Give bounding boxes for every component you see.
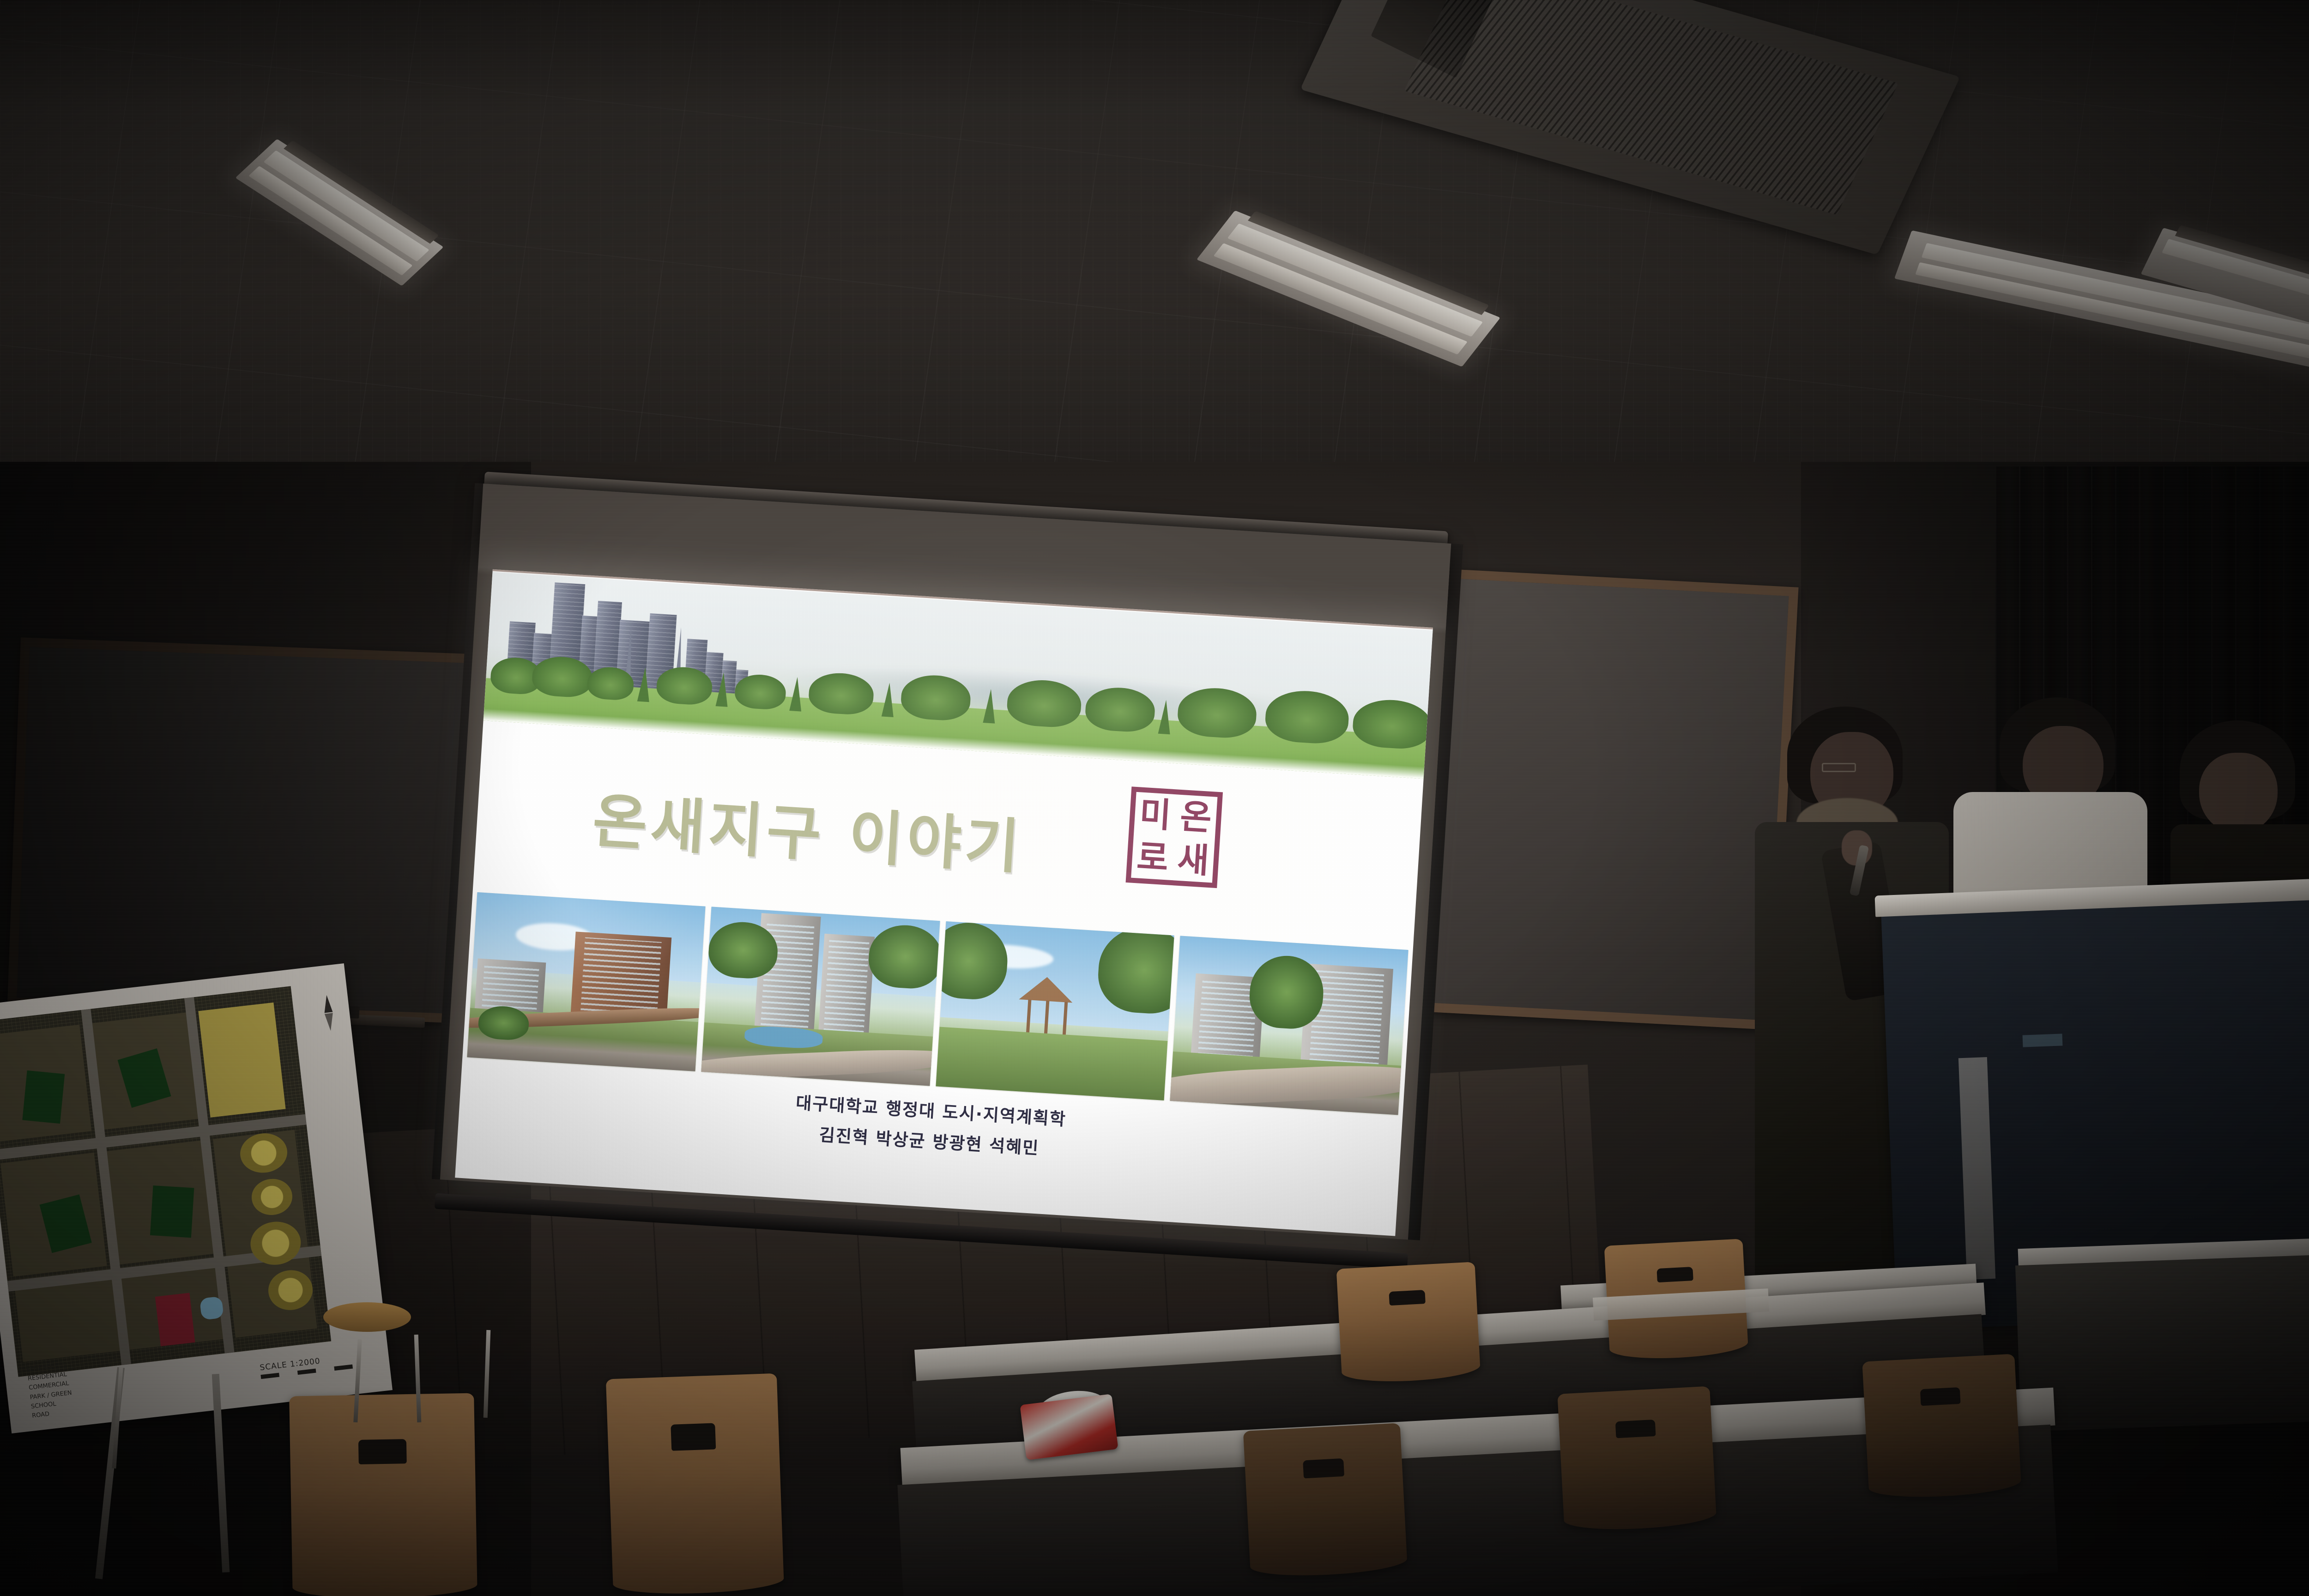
seal-char-2: 온 [1174, 794, 1218, 840]
chair-handle-cutout [1920, 1387, 1961, 1406]
plan-water-body [199, 1296, 224, 1320]
slide-title: 온새지구 이야기 [591, 773, 1026, 884]
chair[interactable] [1862, 1354, 2021, 1500]
poster-legend: LEGEND RESIDENTIAL COMMERCIAL PARK / GRE… [26, 1360, 74, 1421]
chair-handle-cutout [1615, 1420, 1656, 1438]
plan-commercial-strip [199, 1003, 286, 1118]
chair-handle-cutout [1389, 1290, 1425, 1306]
render-panel-residential-street [1170, 936, 1408, 1115]
seal-char-1: 미 [1134, 792, 1177, 837]
chair-handle-cutout [1303, 1458, 1344, 1478]
render-panel-apartments-plaza [701, 907, 940, 1086]
park-conifer [715, 672, 730, 707]
park-conifer [789, 677, 804, 711]
snack-bag [1020, 1394, 1118, 1460]
snack-package[interactable] [1020, 1394, 1118, 1460]
chair[interactable] [1336, 1262, 1481, 1384]
chair[interactable] [1557, 1386, 1717, 1533]
chair-handle-cutout [358, 1439, 407, 1464]
chair-handle-cutout [671, 1423, 716, 1451]
site-plan-poster-board[interactable]: SCALE 1:2000 LEGEND RESIDENTIAL COMMERCI… [0, 963, 393, 1433]
park-conifer [1158, 700, 1173, 734]
scale-bar: SCALE 1:2000 [260, 1351, 371, 1379]
panel-ground [936, 1027, 1167, 1100]
building-windows [580, 937, 662, 1021]
chair[interactable] [289, 1393, 478, 1596]
render-panel-brick-building [467, 892, 705, 1071]
chair-handle-cutout [1656, 1267, 1693, 1282]
park-conifer [637, 667, 652, 702]
projected-slide: 온새지구 이야기 미 온 로 새 [455, 569, 1433, 1236]
plan-green-space [150, 1185, 194, 1238]
render-panel-gazebo [936, 921, 1174, 1100]
round-stool[interactable] [323, 1302, 411, 1332]
park-conifer [983, 689, 997, 723]
seal-char-4: 새 [1172, 837, 1215, 883]
lectern-label-plate [2023, 1034, 2063, 1047]
chair[interactable] [1243, 1423, 1408, 1578]
highrise-apartment [818, 934, 875, 1039]
classroom-photo-scene: 온새지구 이야기 미 온 로 새 [0, 0, 2309, 1596]
side-table-body [2015, 1252, 2309, 1432]
building-windows [823, 940, 869, 1033]
seal-char-3: 로 [1131, 835, 1174, 880]
plan-special-zone [155, 1293, 195, 1346]
seal-stamp: 미 온 로 새 [1126, 786, 1223, 888]
projection-screen[interactable]: 온새지구 이야기 미 온 로 새 [429, 471, 1475, 1289]
plan-green-space [22, 1070, 65, 1124]
chair[interactable] [606, 1373, 784, 1596]
site-plan-drawing [0, 986, 331, 1377]
gazebo-roof [1019, 976, 1074, 1003]
park-conifer [882, 683, 896, 717]
poster-sheet: SCALE 1:2000 LEGEND RESIDENTIAL COMMERCI… [0, 963, 393, 1433]
building-windows [1198, 979, 1257, 1058]
third-person-face [2199, 753, 2278, 834]
north-arrow-icon [316, 994, 341, 1032]
eyeglasses [1822, 763, 1856, 772]
